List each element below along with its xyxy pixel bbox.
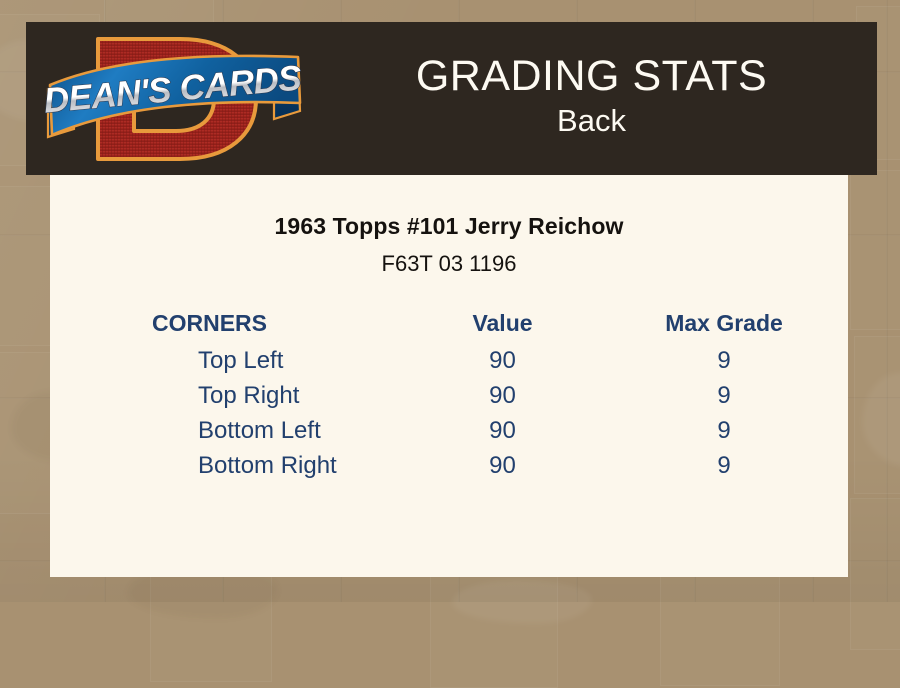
row-label-bottom-right: Bottom Right (50, 448, 405, 483)
column-header-corners: CORNERS (50, 303, 405, 343)
watermark-card (850, 170, 900, 330)
card-title: 1963 Topps #101 Jerry Reichow (50, 213, 848, 240)
row-value-bottom-left: 90 (405, 413, 600, 448)
row-label-bottom-left: Bottom Left (50, 413, 405, 448)
row-max-grade-bottom-left: 9 (600, 413, 848, 448)
table-row: Top Left 90 9 (50, 343, 848, 378)
row-value-bottom-right: 90 (405, 448, 600, 483)
row-max-grade-bottom-right: 9 (600, 448, 848, 483)
table-row: Bottom Left 90 9 (50, 413, 848, 448)
watermark-card (660, 560, 780, 686)
table-row: Top Right 90 9 (50, 378, 848, 413)
stats-table-head: CORNERS Value Max Grade (50, 303, 848, 343)
header-bar: DEAN'S CARDS GRADING STATS Back (26, 22, 877, 175)
watermark-card (850, 498, 900, 650)
card-code: F63T 03 1196 (50, 251, 848, 277)
table-row: Bottom Right 90 9 (50, 448, 848, 483)
deans-cards-logo[interactable]: DEAN'S CARDS (42, 25, 304, 173)
grading-stats-table: CORNERS Value Max Grade Top Left 90 9 To… (50, 303, 848, 483)
row-value-top-left: 90 (405, 343, 600, 378)
stats-table-body: Top Left 90 9 Top Right 90 9 Bottom Left… (50, 343, 848, 483)
column-header-value: Value (405, 303, 600, 343)
page-subtitle: Back (557, 102, 626, 141)
row-label-top-right: Top Right (50, 378, 405, 413)
header-titles: GRADING STATS Back (306, 22, 877, 175)
column-header-max-grade: Max Grade (600, 303, 848, 343)
row-max-grade-top-right: 9 (600, 378, 848, 413)
content-panel: 1963 Topps #101 Jerry Reichow F63T 03 11… (50, 175, 848, 577)
row-label-top-left: Top Left (50, 343, 405, 378)
row-max-grade-top-left: 9 (600, 343, 848, 378)
table-header-row: CORNERS Value Max Grade (50, 303, 848, 343)
row-value-top-right: 90 (405, 378, 600, 413)
page-title: GRADING STATS (416, 54, 767, 99)
